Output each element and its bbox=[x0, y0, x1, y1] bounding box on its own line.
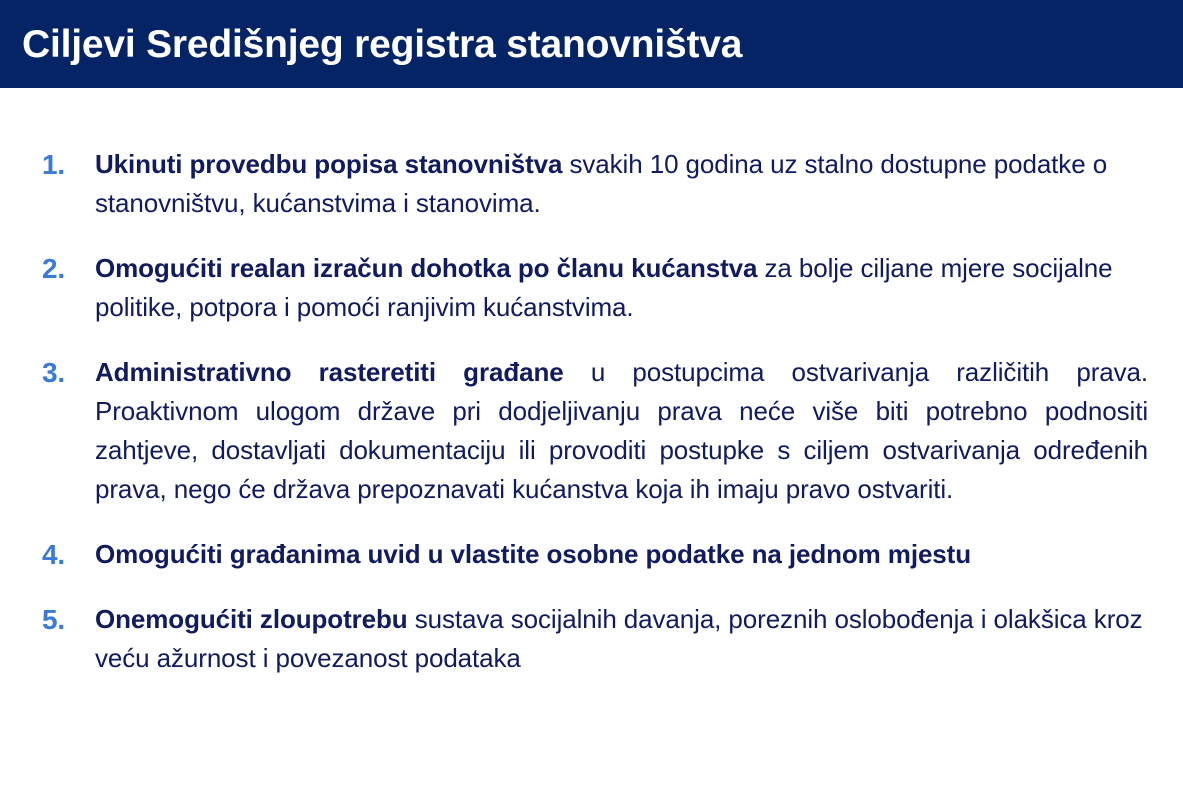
list-item-lead: Ukinuti provedbu popisa stanovništva bbox=[95, 149, 562, 179]
list-item-marker: 2. bbox=[42, 249, 95, 288]
list-item-lead: Omogućiti građanima uvid u vlastite osob… bbox=[95, 539, 971, 569]
list-item-text: Onemogućiti zloupotrebu sustava socijaln… bbox=[95, 600, 1148, 678]
list-item: 3. Administrativno rasteretiti građane u… bbox=[42, 353, 1152, 509]
list-item-marker: 1. bbox=[42, 145, 95, 184]
list-item: 5. Onemogućiti zloupotrebu sustava socij… bbox=[42, 600, 1152, 678]
list-item: 4. Omogućiti građanima uvid u vlastite o… bbox=[42, 535, 1152, 574]
list-item-marker: 5. bbox=[42, 600, 95, 639]
list-item-marker: 3. bbox=[42, 353, 95, 392]
objectives-list: 1. Ukinuti provedbu popisa stanovništva … bbox=[42, 145, 1152, 678]
list-item-lead: Onemogućiti zloupotrebu bbox=[95, 604, 408, 634]
slide-content: 1. Ukinuti provedbu popisa stanovništva … bbox=[0, 88, 1183, 803]
list-item-text: Ukinuti provedbu popisa stanovništva sva… bbox=[95, 145, 1148, 223]
slide: Ciljevi Središnjeg registra stanovništva… bbox=[0, 0, 1183, 803]
slide-title-bar: Ciljevi Središnjeg registra stanovništva bbox=[0, 0, 1183, 88]
list-item-text: Omogućiti građanima uvid u vlastite osob… bbox=[95, 535, 1148, 574]
list-item: 1. Ukinuti provedbu popisa stanovništva … bbox=[42, 145, 1152, 223]
list-item-text: Omogućiti realan izračun dohotka po član… bbox=[95, 249, 1148, 327]
list-item-text: Administrativno rasteretiti građane u po… bbox=[95, 353, 1148, 509]
list-item-lead: Administrativno rasteretiti građane bbox=[95, 357, 564, 387]
page-title: Ciljevi Središnjeg registra stanovništva bbox=[0, 25, 742, 64]
list-item: 2. Omogućiti realan izračun dohotka po č… bbox=[42, 249, 1152, 327]
list-item-lead: Omogućiti realan izračun dohotka po član… bbox=[95, 253, 757, 283]
list-item-marker: 4. bbox=[42, 535, 95, 574]
